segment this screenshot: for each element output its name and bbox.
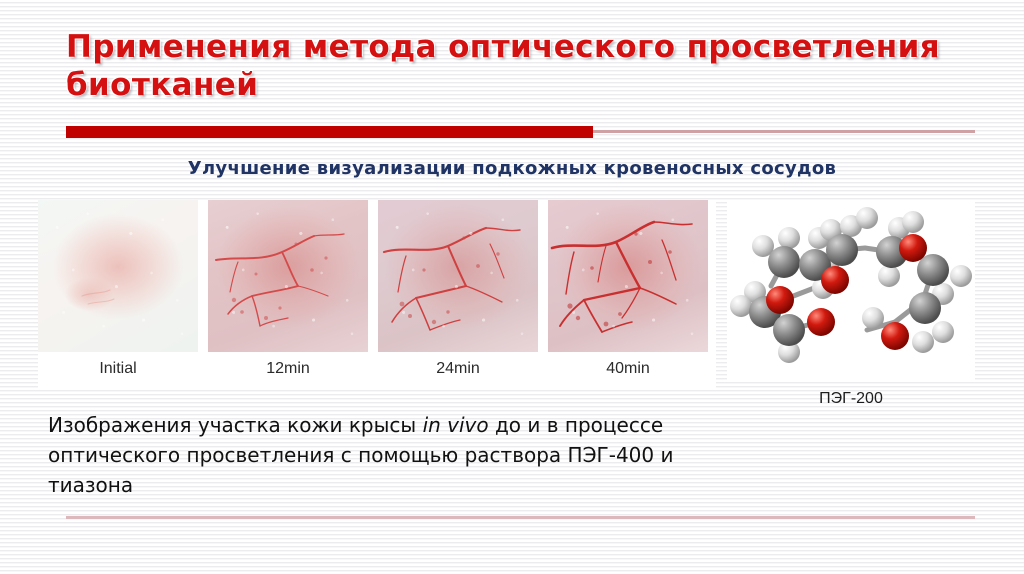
molecule-label: ПЭГ-200 <box>727 390 975 408</box>
peg-molecule-model <box>727 200 975 382</box>
skin-photo-strip: Initial <box>38 200 716 388</box>
molecule-panel <box>727 200 975 382</box>
skin-image-initial <box>38 200 198 352</box>
photo-cell-24min: 24min <box>378 200 538 378</box>
photo-cell-40min: 40min <box>548 200 708 378</box>
divider-thick-bar <box>66 126 593 138</box>
title-divider <box>66 126 976 139</box>
photo-cell-initial: Initial <box>38 200 198 378</box>
vessel-overlay-40min <box>548 200 708 352</box>
skin-image-12min <box>208 200 368 352</box>
section-subtitle: Улучшение визуализации подкожных кровено… <box>0 158 1024 179</box>
vessel-overlay-24min <box>378 200 538 352</box>
photo-cell-12min: 12min <box>208 200 368 378</box>
slide-root: Применения метода оптического просветлен… <box>0 0 1024 574</box>
page-title-line-2: биотканей <box>66 66 966 104</box>
divider-thin-line <box>593 130 975 133</box>
photo-label-initial: Initial <box>99 360 136 378</box>
bottom-divider-rule <box>66 516 975 519</box>
photo-label-12min: 12min <box>266 360 310 378</box>
page-title: Применения метода оптического просветлен… <box>66 28 966 104</box>
photo-label-40min: 40min <box>606 360 650 378</box>
caption-part-1: Изображения участка кожи крысы <box>48 413 423 437</box>
vessel-overlay-12min <box>208 200 368 352</box>
skin-image-40min <box>548 200 708 352</box>
caption-italic-in-vivo: in vivo <box>423 413 489 437</box>
body-caption: Изображения участка кожи крысы in vivo д… <box>48 410 708 500</box>
page-title-line-1: Применения метода оптического просветлен… <box>66 28 966 66</box>
skin-image-24min <box>378 200 538 352</box>
photo-label-24min: 24min <box>436 360 480 378</box>
vessel-overlay-initial <box>38 200 198 352</box>
